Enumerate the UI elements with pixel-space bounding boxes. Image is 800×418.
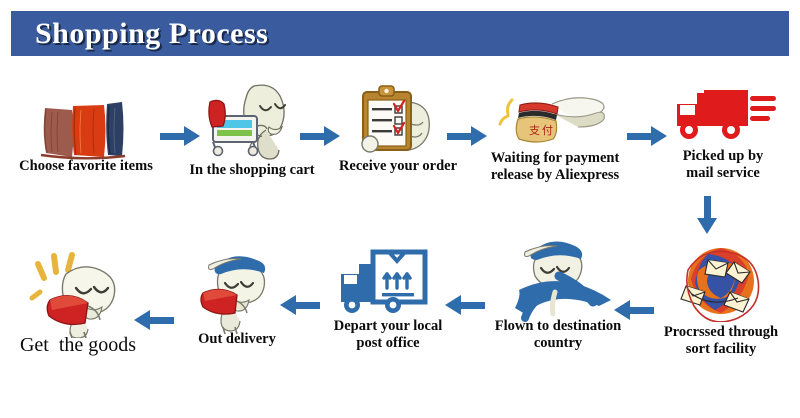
step-label: Picked up by mail service	[648, 148, 798, 182]
step-label: Depart your local post office	[310, 318, 466, 352]
clipboard-checklist-icon	[347, 80, 449, 162]
mail-sorting-globe-icon	[678, 240, 764, 322]
character-pushing-cart-icon	[199, 80, 305, 162]
step-out-delivery: Out delivery	[172, 243, 302, 348]
step-label: In the shopping cart	[176, 162, 328, 179]
step-processed-through-sort-facility: Procrssed through sort facility	[645, 240, 797, 358]
step-flown-to-destination: Flown to destination country	[478, 232, 638, 352]
step-label: Choose favorite items	[6, 158, 166, 175]
red-delivery-truck-icon	[667, 82, 779, 148]
step-picked-up-by-mail-service: Picked up by mail service	[648, 82, 798, 182]
step-choose-favorite-items: Choose favorite items	[6, 92, 166, 175]
character-on-airplane-icon	[497, 232, 619, 324]
arrow-down-connector	[697, 196, 718, 236]
svg-text:支: 支	[529, 124, 540, 137]
page-title: Shopping Process	[35, 17, 268, 51]
hand-stamp-icon: 支 付	[496, 92, 614, 148]
step-get-the-goods: Get the goods	[8, 238, 148, 356]
step-label: Waiting for payment release by Aliexpres…	[470, 150, 640, 184]
courier-character-icon	[187, 243, 287, 335]
step-label: Procrssed through sort facility	[645, 324, 797, 358]
svg-text:付: 付	[542, 124, 553, 137]
step-waiting-for-payment: 支 付 Waiting for payment release by Aliex…	[470, 92, 640, 184]
step-depart-local-post-office: Depart your local post office	[310, 248, 466, 352]
happy-character-with-box-icon	[20, 238, 136, 338]
header-banner: Shopping Process	[11, 11, 789, 56]
blue-truck-with-box-icon	[333, 248, 443, 318]
books-on-shelf-icon	[31, 92, 141, 160]
infographic-root: Shopping Process Choose favorite items	[0, 0, 800, 418]
